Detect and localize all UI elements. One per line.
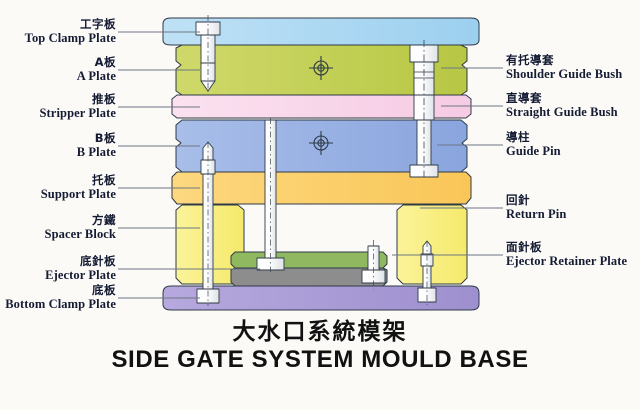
label-top-clamp-plate-cn: 工字板 (25, 18, 116, 31)
diagram-title: 大水口系統模架 SIDE GATE SYSTEM MOULD BASE (0, 318, 640, 374)
label-guide-pin-cn: 導柱 (506, 131, 561, 144)
label-spacer-block-cn: 方鐵 (45, 214, 116, 227)
label-bottom-clamp-plate: 底板 Bottom Clamp Plate (5, 284, 116, 311)
label-shoulder-guide-bush-cn: 有托導套 (506, 54, 622, 67)
label-stripper-plate-en: Stripper Plate (39, 106, 116, 120)
spacer-block-right (397, 205, 467, 284)
label-a-plate-en: A Plate (77, 69, 116, 83)
label-return-pin: 回針 Return Pin (506, 194, 566, 221)
label-a-plate-cn: A板 (77, 56, 116, 69)
label-stripper-plate-cn: 推板 (39, 93, 116, 106)
label-straight-guide-bush-en: Straight Guide Bush (506, 105, 618, 119)
label-spacer-block-en: Spacer Block (45, 227, 116, 241)
label-support-plate-en: Support Plate (41, 187, 116, 201)
label-a-plate: A板 A Plate (77, 56, 116, 83)
label-ejector-retainer-plate-en: Ejector Retainer Plate (506, 254, 627, 268)
label-ejector-retainer-plate: 面針板 Ejector Retainer Plate (506, 241, 627, 268)
label-shoulder-guide-bush-en: Shoulder Guide Bush (506, 67, 622, 81)
label-bottom-clamp-plate-en: Bottom Clamp Plate (5, 297, 116, 311)
label-spacer-block: 方鐵 Spacer Block (45, 214, 116, 241)
mould-base-diagram: 工字板 Top Clamp Plate A板 A Plate 推板 Stripp… (0, 0, 640, 410)
label-shoulder-guide-bush: 有托導套 Shoulder Guide Bush (506, 54, 622, 81)
label-ejector-retainer-plate-cn: 面針板 (506, 241, 627, 254)
label-b-plate: B板 B Plate (77, 132, 116, 159)
label-ejector-plate: 底針板 Ejector Plate (45, 255, 116, 282)
label-straight-guide-bush-cn: 直導套 (506, 92, 618, 105)
label-bottom-clamp-plate-cn: 底板 (5, 284, 116, 297)
label-b-plate-cn: B板 (77, 132, 116, 145)
label-ejector-plate-cn: 底針板 (45, 255, 116, 268)
plate-ejector-retainer (231, 252, 387, 268)
label-return-pin-en: Return Pin (506, 207, 566, 221)
label-return-pin-cn: 回針 (506, 194, 566, 207)
label-top-clamp-plate-en: Top Clamp Plate (25, 31, 116, 45)
label-ejector-plate-en: Ejector Plate (45, 268, 116, 282)
diagram-title-chinese: 大水口系統模架 (0, 318, 640, 346)
label-top-clamp-plate: 工字板 Top Clamp Plate (25, 18, 116, 45)
label-b-plate-en: B Plate (77, 145, 116, 159)
diagram-title-english: SIDE GATE SYSTEM MOULD BASE (0, 346, 640, 374)
label-support-plate: 托板 Support Plate (41, 174, 116, 201)
label-stripper-plate: 推板 Stripper Plate (39, 93, 116, 120)
label-guide-pin-en: Guide Pin (506, 144, 561, 158)
label-straight-guide-bush: 直導套 Straight Guide Bush (506, 92, 618, 119)
label-guide-pin: 導柱 Guide Pin (506, 131, 561, 158)
label-support-plate-cn: 托板 (41, 174, 116, 187)
